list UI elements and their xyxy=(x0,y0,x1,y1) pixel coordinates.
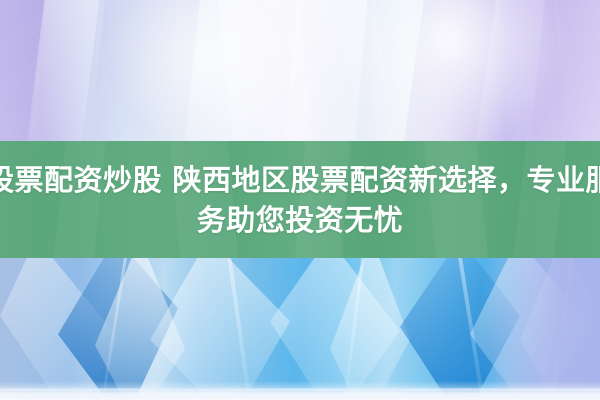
headline-line-2: 务助您投资无忧 xyxy=(197,200,404,240)
promo-banner-image: 股票配资炒股 陕西地区股票配资新选择，专业服 务助您投资无忧 xyxy=(0,0,600,400)
highlight-glow-right xyxy=(330,0,570,150)
headline-line-1: 股票配资炒股 陕西地区股票配资新选择，专业服 xyxy=(0,160,600,200)
right-periwinkle-wash xyxy=(490,258,600,400)
diamond-shape-2 xyxy=(150,258,290,400)
highlight-glow-left xyxy=(110,0,310,150)
watermark-text xyxy=(282,378,322,392)
headline-text: 股票配资炒股 陕西地区股票配资新选择，专业服 务助您投资无忧 xyxy=(0,141,600,258)
top-gradient-panel xyxy=(0,0,600,145)
